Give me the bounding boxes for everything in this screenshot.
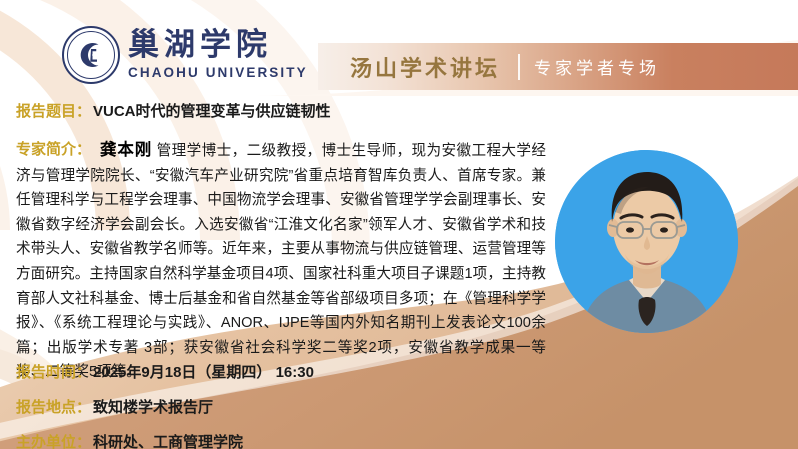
seal-emblem-icon xyxy=(76,40,106,70)
university-name-en: CHAOHU UNIVERSITY xyxy=(128,66,308,80)
speaker-portrait xyxy=(555,150,738,333)
university-logo: 巢湖学院 CHAOHU UNIVERSITY xyxy=(62,26,308,84)
forum-title: 汤山学术讲坛 xyxy=(350,51,500,83)
report-place-value: 致知楼学术报告厅 xyxy=(93,396,213,417)
report-organizer-label: 主办单位： xyxy=(16,431,91,449)
report-time-row: 报告时间： 2025年9月18日（星期四） 16:30 xyxy=(16,361,314,382)
seminar-poster: 巢湖学院 CHAOHU UNIVERSITY 汤山学术讲坛 专家学者专场 报告题… xyxy=(0,0,798,449)
banner-divider xyxy=(518,54,520,80)
speaker-bio-label: 专家简介： xyxy=(16,138,91,159)
report-organizer-row: 主办单位： 科研处、工商管理学院 xyxy=(16,431,243,449)
report-title-row: 报告题目： VUCA时代的管理变革与供应链韧性 xyxy=(16,100,331,121)
speaker-bio-text: 龚本刚 管理学博士，二级教授，博士生导师，现为安徽工程大学经济与管理学院院长、“… xyxy=(16,138,546,385)
report-place-label: 报告地点： xyxy=(16,396,91,417)
speaker-bio-detail: 管理学博士，二级教授，博士生导师，现为安徽工程大学经济与管理学院院长、“安徽汽车… xyxy=(16,143,546,380)
report-time-value: 2025年9月18日（星期四） 16:30 xyxy=(93,361,314,382)
speaker-bio-block: 专家简介： 龚本刚 管理学博士，二级教授，博士生导师，现为安徽工程大学经济与管理… xyxy=(16,138,546,385)
report-title-label: 报告题目： xyxy=(16,100,91,121)
forum-banner: 汤山学术讲坛 专家学者专场 xyxy=(318,43,798,90)
report-place-row: 报告地点： 致知楼学术报告厅 xyxy=(16,396,213,417)
university-seal-icon xyxy=(62,26,120,84)
forum-subtitle: 专家学者专场 xyxy=(534,54,660,79)
speaker-portrait-image xyxy=(555,150,738,333)
report-title-value: VUCA时代的管理变革与供应链韧性 xyxy=(93,100,331,121)
university-name-cn: 巢湖学院 xyxy=(128,30,308,61)
report-time-label: 报告时间： xyxy=(16,361,91,382)
poster-header: 巢湖学院 CHAOHU UNIVERSITY 汤山学术讲坛 专家学者专场 xyxy=(0,0,798,96)
report-organizer-value: 科研处、工商管理学院 xyxy=(93,431,243,449)
speaker-name: 龚本刚 xyxy=(100,141,152,159)
